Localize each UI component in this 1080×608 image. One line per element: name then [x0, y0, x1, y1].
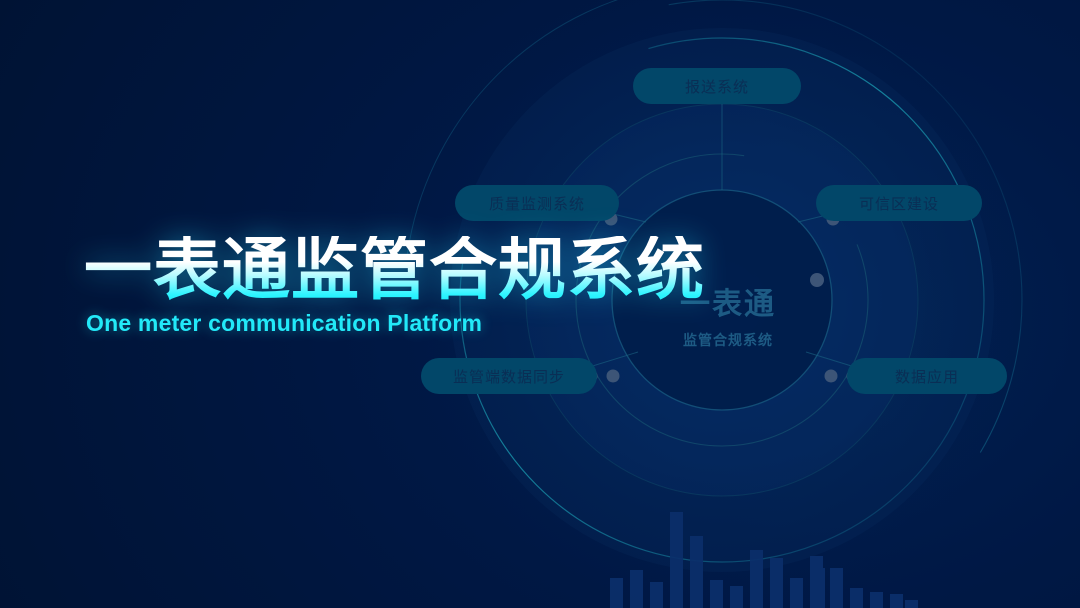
- slide-canvas: 一表通监管合规系统 One meter communication Platfo…: [0, 0, 1080, 608]
- node-dot-lower-left-inner: [607, 370, 620, 383]
- page-title: 一表通监管合规系统: [84, 236, 704, 304]
- node-pill-regulator-data-sync[interactable]: 监管端数据同步: [421, 358, 597, 394]
- node-pill-data-application[interactable]: 数据应用: [847, 358, 1007, 394]
- node-pill-trusted-zone-construction[interactable]: 可信区建设: [816, 185, 982, 221]
- node-pill-reporting-system[interactable]: 报送系统: [633, 68, 801, 104]
- title-block: 一表通监管合规系统 One meter communication Platfo…: [84, 236, 704, 337]
- node-dot-lower-right-inner: [825, 370, 838, 383]
- page-subtitle: One meter communication Platform: [86, 310, 704, 337]
- node-dot-right: [810, 273, 824, 287]
- node-pill-quality-monitoring-system[interactable]: 质量监测系统: [455, 185, 619, 221]
